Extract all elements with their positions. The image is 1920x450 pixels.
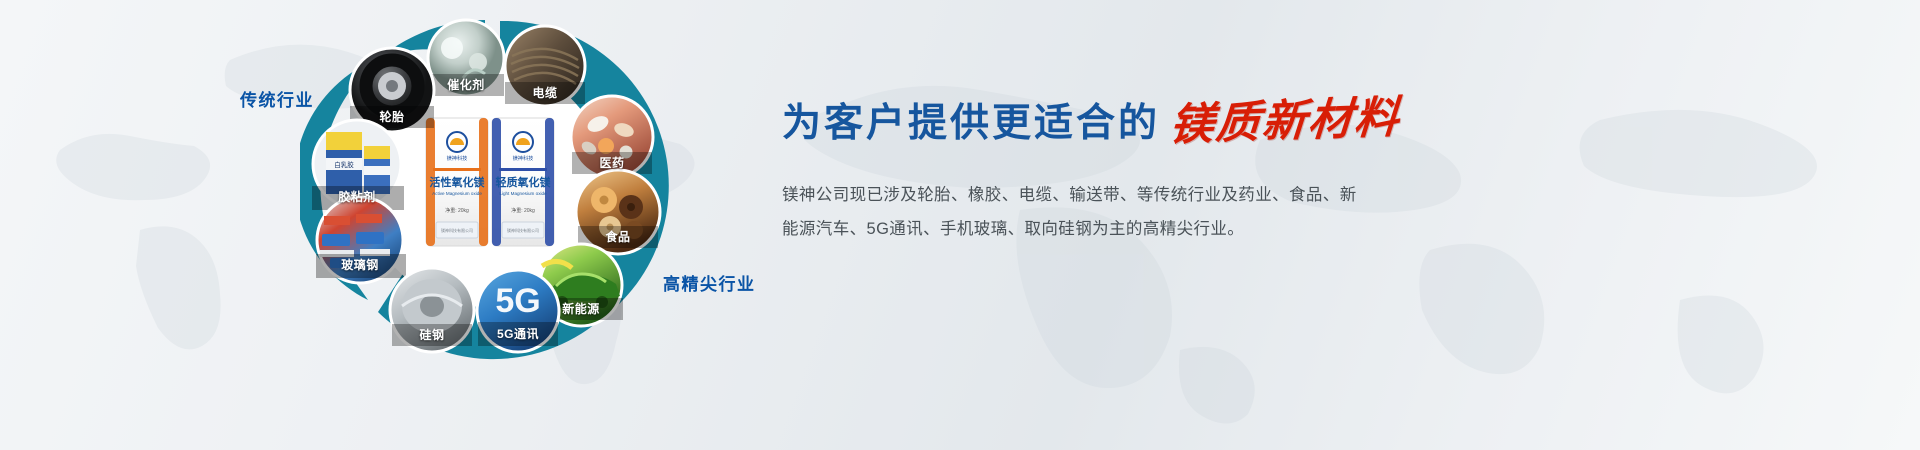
product-bag-active-magnesium-oxide: 镁神科技 活性氧化镁 Active Magnesium oxide 净重: 20… <box>426 118 488 246</box>
bubble-label-food: 食品 <box>605 228 630 245</box>
banner-body-copy: 镁神公司现已涉及轮胎、橡胶、电缆、输送带、等传统行业及药业、食品、新 能源汽车、… <box>782 179 1322 247</box>
product-bag-light-magnesium-oxide: 镁神科技 轻质氧化镁 Light Magnesium oxide 净重: 20k… <box>492 118 554 246</box>
body-line-1: 镁神公司现已涉及轮胎、橡胶、电缆、输送带、等传统行业及药业、食品、新 <box>782 179 1322 213</box>
svg-text:活性氧化镁: 活性氧化镁 <box>430 175 486 189</box>
svg-text:轻质氧化镁: 轻质氧化镁 <box>496 175 552 189</box>
bubble-label-medicine: 医药 <box>599 154 624 171</box>
svg-text:镁神科技: 镁神科技 <box>447 154 468 162</box>
banner-headline: 为客户提供更适合的 镁质新材料 <box>782 100 1482 144</box>
svg-text:净重: 20kg: 净重: 20kg <box>445 207 469 214</box>
bubble-label-catalyst: 催化剂 <box>447 76 485 93</box>
svg-text:净重: 20kg: 净重: 20kg <box>511 207 535 214</box>
bubble-label-new-energy: 新能源 <box>562 300 600 317</box>
svg-text:镁神科技有限公司: 镁神科技有限公司 <box>507 227 539 233</box>
bubble-label-silicon-steel: 硅钢 <box>419 326 444 343</box>
svg-text:镁神科技有限公司: 镁神科技有限公司 <box>441 227 473 233</box>
arc-label-advanced-industries: 高精尖行业 <box>663 270 756 295</box>
infographic-svg: 镁神科技 活性氧化镁 Active Magnesium oxide 净重: 20… <box>300 0 800 450</box>
banner-text-block: 为客户提供更适合的 镁质新材料 镁神公司现已涉及轮胎、橡胶、电缆、输送带、等传统… <box>782 100 1482 247</box>
bubble-label-adhesive: 胶粘剂 <box>338 188 376 205</box>
headline-main-text: 为客户提供更适合的 <box>782 104 1160 143</box>
bubble-label-cable: 电缆 <box>532 84 557 101</box>
svg-text:5G: 5G <box>495 282 540 320</box>
bubble-label-frp: 玻璃钢 <box>341 256 379 273</box>
svg-text:Active Magnesium oxide: Active Magnesium oxide <box>432 191 482 196</box>
svg-text:白乳胶: 白乳胶 <box>334 160 354 169</box>
arc-label-traditional-industries: 传统行业 <box>240 86 314 111</box>
bubble-label-5g: 5G通讯 <box>497 325 539 342</box>
body-line-2: 能源汽车、5G通讯、手机玻璃、取向硅钢为主的高精尖行业。 <box>782 213 1322 247</box>
industry-circle-infographic: 镁神科技 活性氧化镁 Active Magnesium oxide 净重: 20… <box>300 0 800 450</box>
headline-accent-text: 镁质新材料 <box>1168 96 1402 148</box>
svg-text:镁神科技: 镁神科技 <box>513 154 534 162</box>
bubble-label-tire: 轮胎 <box>379 108 404 125</box>
svg-text:Light Magnesium oxide: Light Magnesium oxide <box>499 191 547 196</box>
